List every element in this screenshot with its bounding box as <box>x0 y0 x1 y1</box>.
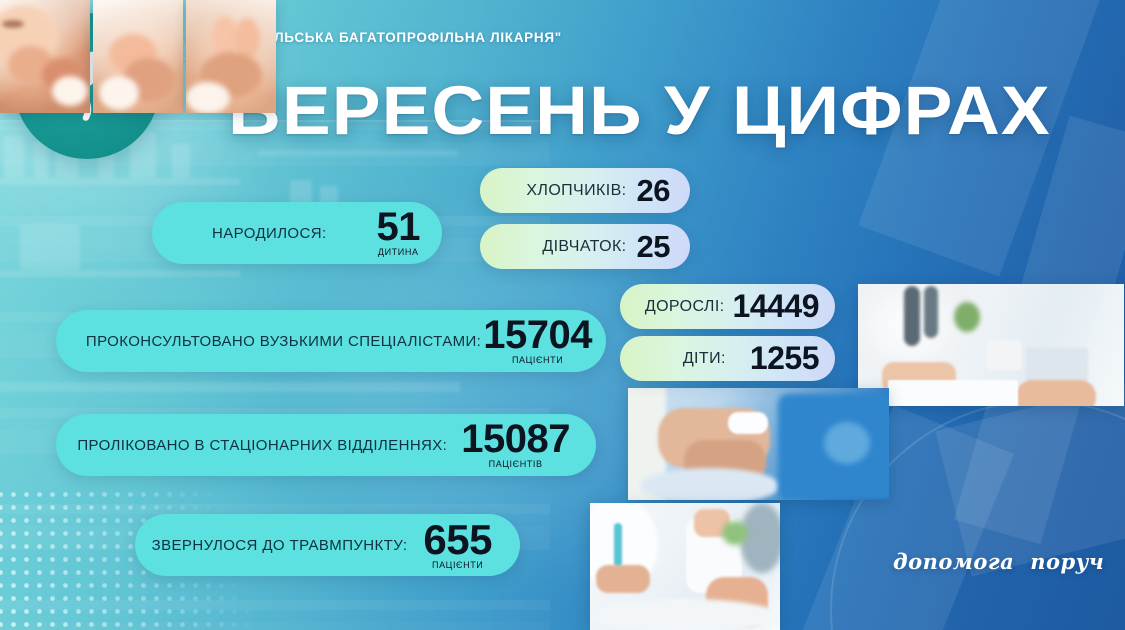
slogan: допомогапоруч <box>893 549 1104 574</box>
stat-boys-label: ХЛОПЧИКІВ: <box>526 182 626 200</box>
slogan-word-2: поруч <box>1030 549 1104 574</box>
stat-children-pill[interactable]: ДІТИ: 1255 <box>620 336 835 381</box>
stat-consulted-label: ПРОКОНСУЛЬТОВАНО ВУЗЬКИМИ СПЕЦІАЛІСТАМИ: <box>86 333 481 350</box>
stat-born-value-block: 51 дитина <box>377 209 421 256</box>
stat-trauma-value: 655 <box>423 521 492 560</box>
stat-adults-label: ДОРОСЛІ: <box>645 298 725 316</box>
stat-adults-pill[interactable]: ДОРОСЛІ: 14449 <box>620 284 835 329</box>
stat-boys-value: 26 <box>637 173 670 209</box>
stat-consulted-caption: пацієнти <box>512 356 563 364</box>
slogan-word-1: допомога <box>893 549 1014 574</box>
stat-adults-value: 14449 <box>733 288 819 325</box>
stat-born-label: НАРОДИЛОСЯ: <box>212 225 327 242</box>
stat-born-value: 51 <box>377 209 421 246</box>
stat-trauma-label: ЗВЕРНУЛОСЯ ДО ТРАВМПУНКТУ: <box>152 537 408 554</box>
newborn-photo-strip <box>0 0 276 113</box>
page-title: ВЕРЕСЕНЬ У ЦИФРАХ <box>228 76 1051 145</box>
stat-children-value: 1255 <box>750 340 819 377</box>
newborn-baby-sleeping-photo <box>0 0 90 113</box>
stat-consulted-value: 15704 <box>483 317 592 354</box>
stat-inpatient-value-block: 15087 пацієнтів <box>461 421 570 468</box>
stat-children-label: ДІТИ: <box>683 350 726 368</box>
doctor-consultation-writing-photo <box>858 284 1124 406</box>
stat-trauma-pill[interactable]: ЗВЕРНУЛОСЯ ДО ТРАВМПУНКТУ: 655 пацієнти <box>135 514 520 576</box>
patient-hand-with-iv-drip-photo <box>628 388 889 500</box>
stat-consulted-pill[interactable]: ПРОКОНСУЛЬТОВАНО ВУЗЬКИМИ СПЕЦІАЛІСТАМИ:… <box>56 310 606 372</box>
stat-inpatient-label: ПРОЛІКОВАНО В СТАЦІОНАРНИХ ВІДДІЛЕННЯХ: <box>77 437 447 454</box>
newborn-hand-holding-finger-photo <box>93 0 183 113</box>
stat-inpatient-value: 15087 <box>461 421 570 458</box>
stat-girls-value: 25 <box>637 229 670 265</box>
newborn-feet-in-hands-photo <box>186 0 276 113</box>
stat-girls-pill[interactable]: ДІВЧАТОК: 25 <box>480 224 690 269</box>
stat-girls-label: ДІВЧАТОК: <box>542 238 626 256</box>
bandaged-hand-examination-photo <box>590 503 780 630</box>
stat-boys-pill[interactable]: ХЛОПЧИКІВ: 26 <box>480 168 690 213</box>
stat-born-pill[interactable]: НАРОДИЛОСЯ: 51 дитина <box>152 202 442 264</box>
stat-inpatient-caption: пацієнтів <box>489 460 543 468</box>
infographic-canvas: КНП "ЗВЯГЕЛЬСЬКА БАГАТОПРОФІЛЬНА ЛІКАРНЯ… <box>0 0 1125 630</box>
stat-consulted-value-block: 15704 пацієнти <box>483 317 592 364</box>
stat-inpatient-pill[interactable]: ПРОЛІКОВАНО В СТАЦІОНАРНИХ ВІДДІЛЕННЯХ: … <box>56 414 596 476</box>
stat-trauma-value-block: 655 пацієнти <box>423 521 492 570</box>
stat-trauma-caption: пацієнти <box>432 561 483 569</box>
stat-born-caption: дитина <box>378 248 419 256</box>
